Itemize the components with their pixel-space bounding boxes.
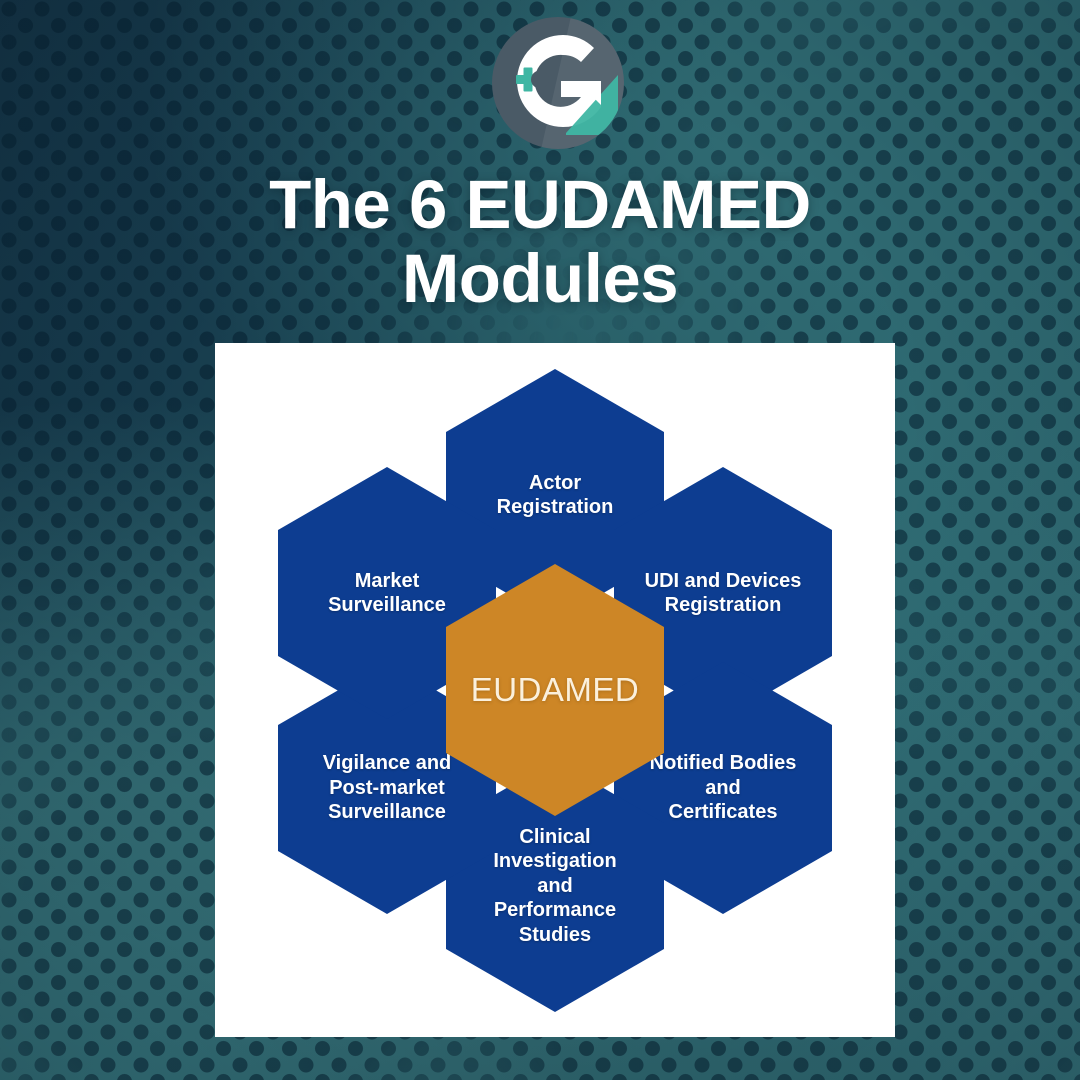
eudamed-hexagon-wheel: Actor Registration UDI and Devices Regis… — [215, 343, 895, 1037]
center-label: EUDAMED — [471, 670, 640, 710]
module-label: Notified Bodies and Certificates — [650, 751, 797, 824]
module-label: UDI and Devices Registration — [645, 569, 802, 618]
module-label: Vigilance and Post-market Surveillance — [323, 751, 452, 824]
module-label: Actor Registration — [497, 471, 614, 520]
diagram-card: Actor Registration UDI and Devices Regis… — [215, 343, 895, 1037]
brand-logo-icon — [488, 13, 628, 153]
module-label: Clinical Investigation and Performance S… — [493, 825, 616, 947]
page-title-line-1: The 6 EUDAMED — [0, 168, 1080, 242]
module-label: Market Surveillance — [328, 569, 446, 618]
infographic-canvas: The 6 EUDAMED Modules Actor Registration… — [0, 0, 1080, 1080]
page-title: The 6 EUDAMED Modules — [0, 168, 1080, 316]
page-title-line-2: Modules — [0, 242, 1080, 316]
